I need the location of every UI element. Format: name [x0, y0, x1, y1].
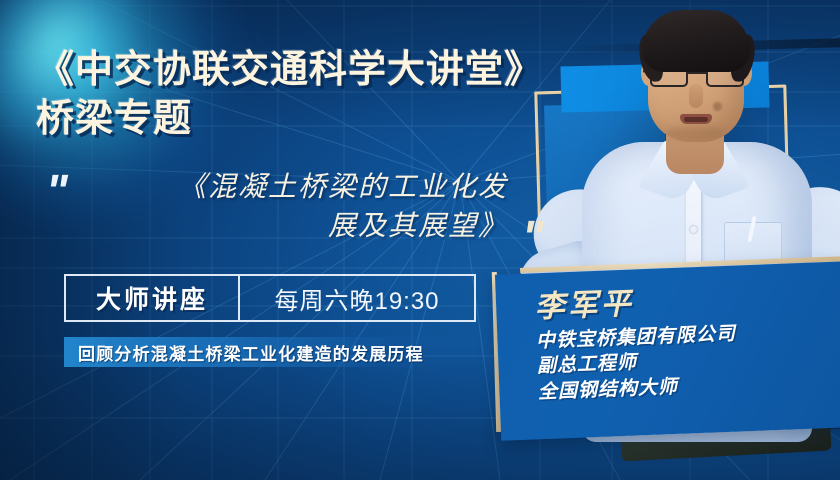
quote-mark-open-icon: " — [46, 168, 68, 214]
lecture-subtitle-block: " 《混凝土桥梁的工业化发 展及其展望》 " — [40, 168, 520, 245]
title-line-2: 桥梁专题 — [36, 97, 556, 142]
title-line-1: 《中交协联交通科学大讲堂》 — [36, 48, 556, 93]
page-title: 《中交协联交通科学大讲堂》 桥梁专题 — [36, 48, 556, 142]
portrait-chin-shadow — [666, 126, 726, 140]
schedule-box: 大师讲座 每周六晚19:30 — [64, 274, 476, 322]
quote-mark-close-icon: " — [522, 214, 544, 260]
portrait-mouth — [680, 114, 712, 124]
schedule-time: 每周六晚19:30 — [240, 281, 474, 316]
portrait-cheek — [713, 102, 722, 111]
subtitle-line-1: 《混凝土桥梁的工业化发 — [88, 168, 508, 207]
portrait-hair — [642, 10, 750, 72]
schedule-label: 大师讲座 — [66, 280, 238, 316]
speaker-info-text: 李军平 中铁宝桥集团有限公司 副总工程师 全国钢结构大师 — [534, 270, 840, 406]
lecture-subtitle: 《混凝土桥梁的工业化发 展及其展望》 — [88, 168, 508, 245]
tagline-bar: 回顾分析混凝土桥梁工业化建造的发展历程 — [64, 337, 476, 367]
poster-canvas: 李军平 中铁宝桥集团有限公司 副总工程师 全国钢结构大师 《中交协联交通科学大讲… — [0, 0, 840, 480]
subtitle-line-2: 展及其展望》 — [88, 207, 508, 246]
portrait-shirt-button — [690, 226, 697, 233]
tagline-text: 回顾分析混凝土桥梁工业化建造的发展历程 — [64, 340, 424, 365]
